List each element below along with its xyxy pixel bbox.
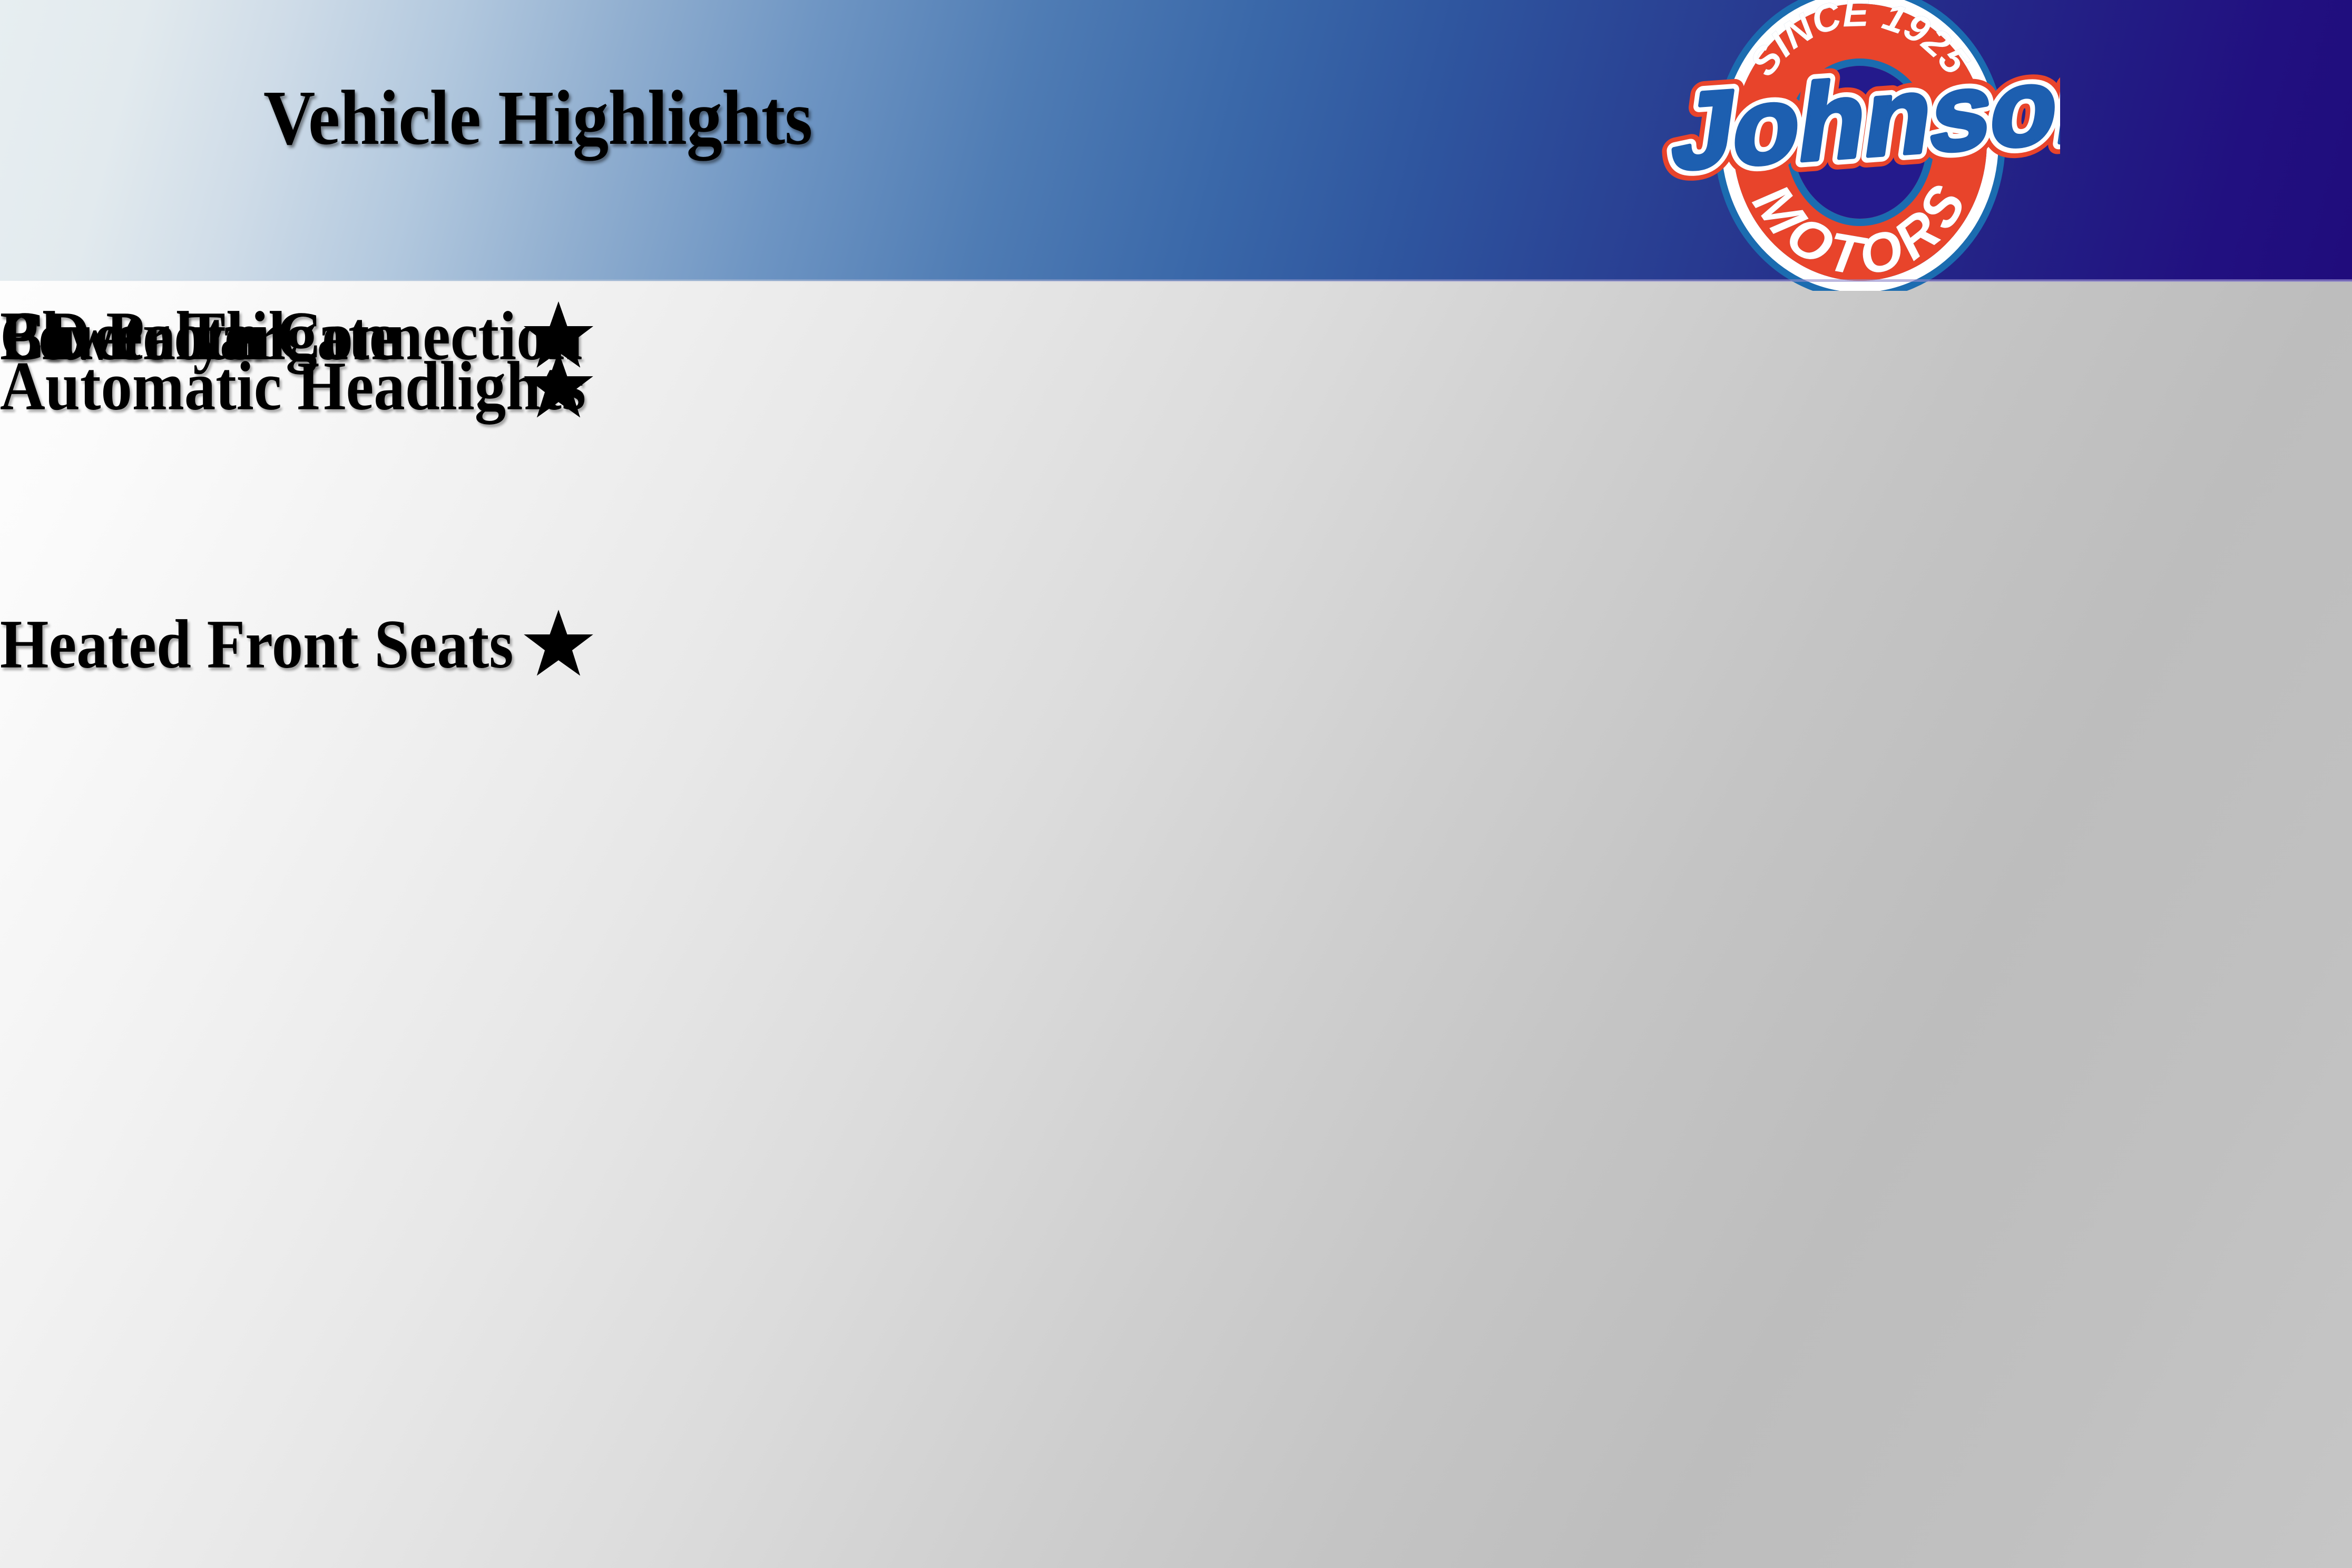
johnson-motors-logo: SINCE 1925 SINCE 1925 MOTORS MOTORS John… [1660,0,2060,291]
star-icon [522,299,595,373]
list-item: Power Tailgate [0,281,2352,391]
list-item-label: Heated Front Seats [0,609,513,680]
header-band: Vehicle Highlights [0,0,2352,281]
star-icon [522,607,595,681]
slide-canvas: Vehicle Highlights [0,0,2352,1568]
list-item-label: Power Tailgate [0,301,397,372]
vehicle-highlights-list: Automatic Headlights Heated Front Seats … [0,281,2352,1568]
page-title: Vehicle Highlights [263,79,812,157]
list-item: Heated Front Seats [0,589,2352,700]
